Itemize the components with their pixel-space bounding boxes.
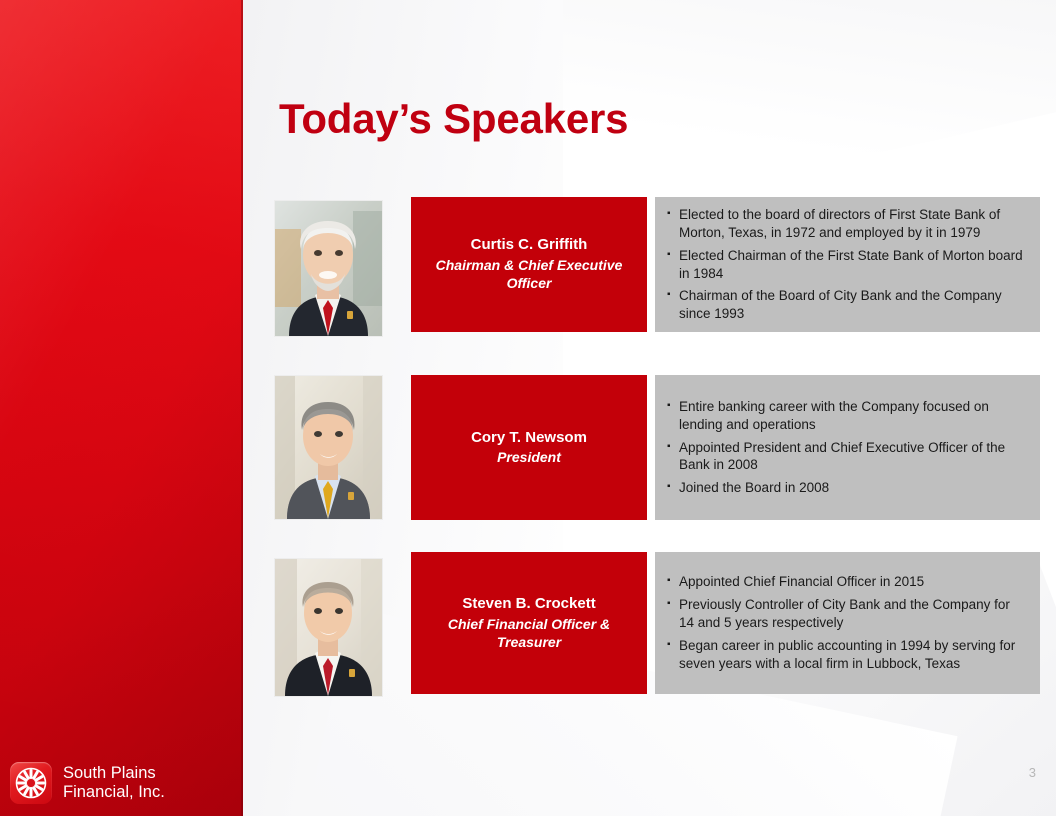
logo-line-2: Financial, Inc.	[63, 783, 165, 802]
speaker-bio-panel: Appointed Chief Financial Officer in 201…	[655, 552, 1040, 694]
speaker-name: Curtis C. Griffith	[471, 236, 588, 255]
speaker-name-card: Curtis C. Griffith Chairman & Chief Exec…	[411, 197, 647, 332]
page-title: Today’s Speakers	[279, 95, 628, 143]
speaker-title: Chief Financial Officer & Treasurer	[425, 615, 633, 651]
speaker-bio-list: Appointed Chief Financial Officer in 201…	[667, 573, 1026, 672]
portrait-cory-newsom-image	[275, 376, 382, 519]
speaker-bio-panel: Elected to the board of directors of Fir…	[655, 197, 1040, 332]
speaker-photo	[274, 558, 383, 697]
bio-bullet: Entire banking career with the Company f…	[667, 398, 1026, 434]
portrait-steven-crockett-image	[275, 559, 382, 696]
speaker-title: Chairman & Chief Executive Officer	[425, 256, 633, 292]
bio-bullet: Previously Controller of City Bank and t…	[667, 596, 1026, 632]
bio-bullet: Elected Chairman of the First State Bank…	[667, 247, 1026, 283]
bio-bullet: Appointed Chief Financial Officer in 201…	[667, 573, 1026, 591]
speaker-bio-list: Elected to the board of directors of Fir…	[667, 206, 1026, 323]
speaker-photo	[274, 375, 383, 520]
bio-bullet: Chairman of the Board of City Bank and t…	[667, 287, 1026, 323]
logo-text: South Plains Financial, Inc.	[63, 764, 165, 802]
presentation-slide: Today’s Speakers	[0, 0, 1056, 816]
speaker-title: President	[497, 448, 561, 466]
speaker-name: Steven B. Crockett	[462, 595, 595, 614]
speaker-name-card: Steven B. Crockett Chief Financial Offic…	[411, 552, 647, 694]
bio-bullet: Elected to the board of directors of Fir…	[667, 206, 1026, 242]
left-red-sidebar	[0, 0, 243, 816]
speaker-bio-list: Entire banking career with the Company f…	[667, 398, 1026, 497]
company-logo: South Plains Financial, Inc.	[10, 762, 165, 804]
sidebar-edge-line	[241, 0, 243, 816]
bio-bullet: Began career in public accounting in 199…	[667, 637, 1026, 673]
bio-bullet: Joined the Board in 2008	[667, 479, 1026, 497]
speaker-name: Cory T. Newsom	[471, 429, 587, 448]
page-number: 3	[1029, 765, 1036, 780]
bio-bullet: Appointed President and Chief Executive …	[667, 439, 1026, 475]
portrait-curtis-griffith-image	[275, 201, 382, 336]
logo-line-1: South Plains	[63, 764, 165, 783]
spoked-wheel-icon	[10, 762, 52, 804]
speaker-name-card: Cory T. Newsom President	[411, 375, 647, 520]
speaker-photo	[274, 200, 383, 337]
speaker-bio-panel: Entire banking career with the Company f…	[655, 375, 1040, 520]
sidebar-gradient-overlay	[0, 0, 243, 816]
